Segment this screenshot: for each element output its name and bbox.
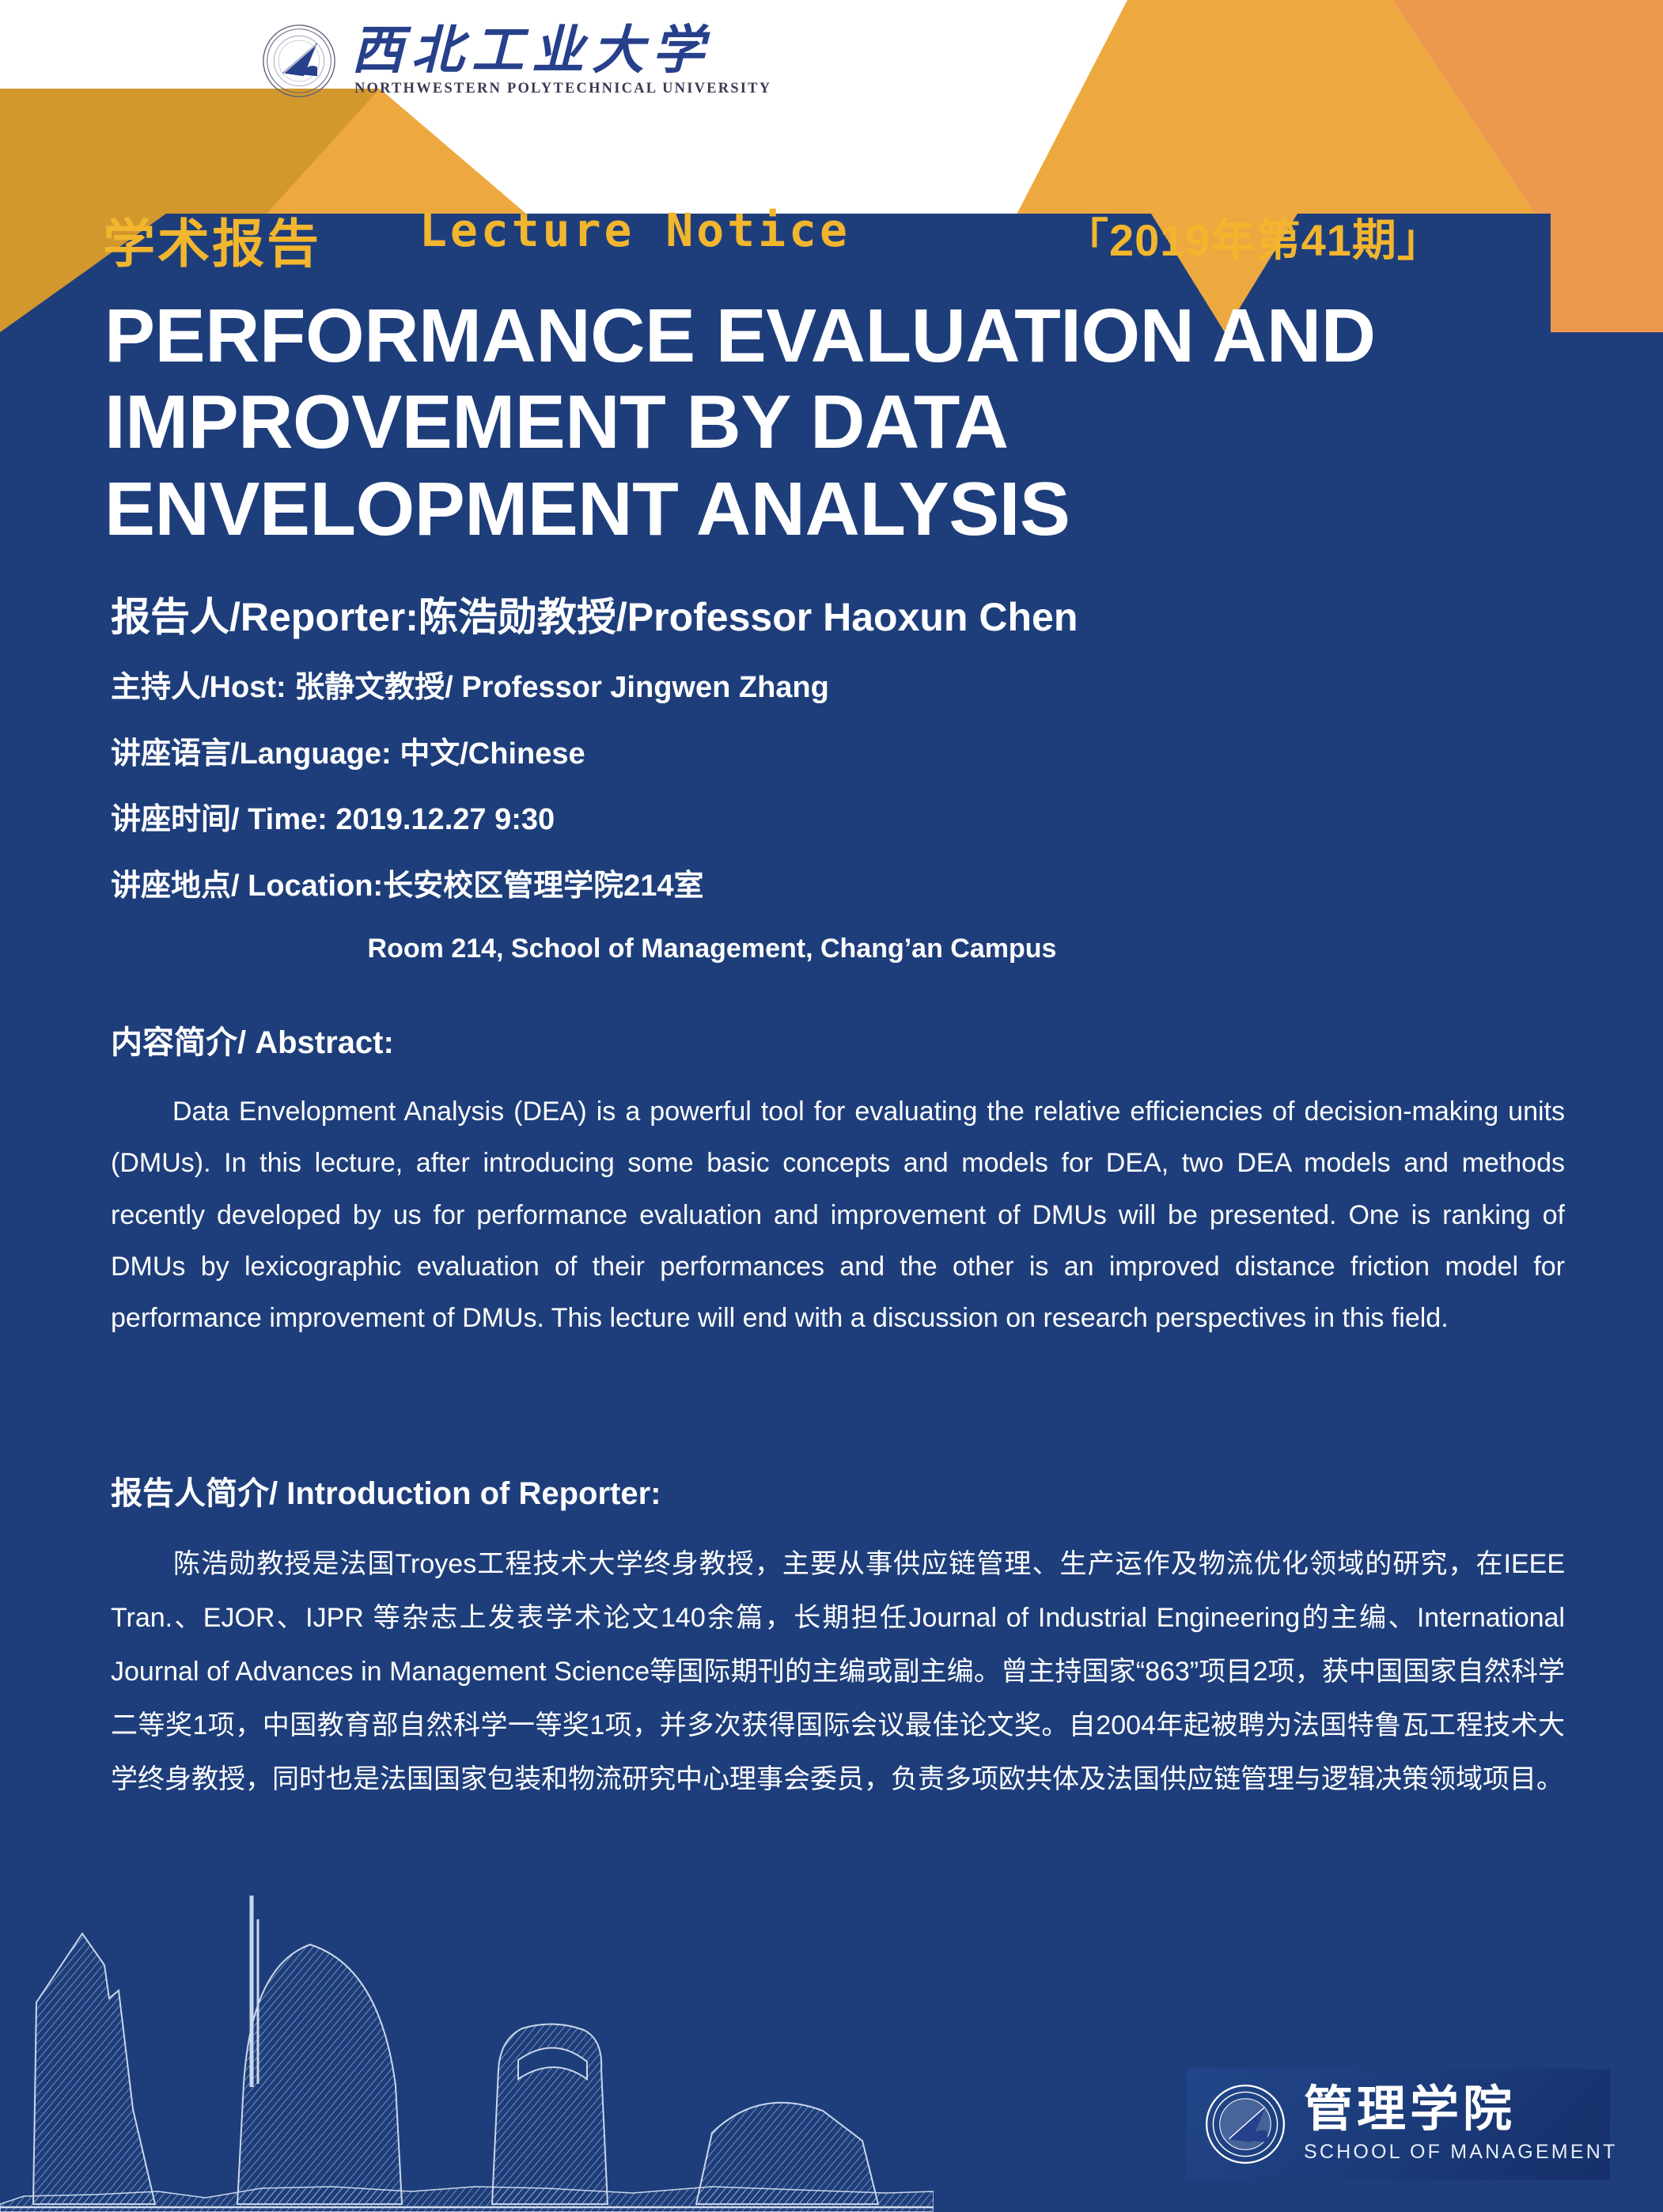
abstract-heading: 内容简介/ Abstract:	[111, 1017, 1565, 1062]
introduction-heading: 报告人简介/ Introduction of Reporter:	[111, 1468, 1565, 1513]
banner-issue-number: 「2019年第41期」	[1064, 205, 1442, 269]
header-geometric-decoration	[0, 0, 1663, 332]
banner-title-cn: 学术报告	[103, 202, 321, 278]
detail-time: 讲座时间/ Time: 2019.12.27 9:30	[111, 801, 1559, 839]
introduction-text: 陈浩勋教授是法国Troyes工程技术大学终身教授，主要从事供应链管理、生产运作及…	[111, 1549, 1565, 1794]
abstract-body: Data Envelopment Analysis (DEA) is a pow…	[111, 1086, 1565, 1344]
banner-row: 学术报告 Lecture Notice 「2019年第41期」	[0, 202, 1663, 273]
university-name-en: NORTHWESTERN POLYTECHNICAL UNIVERSITY	[354, 81, 771, 97]
university-name-cn: 西北工业大学	[351, 25, 771, 78]
detail-location-en: Room 214, School of Management, Chang’an…	[111, 934, 1313, 964]
school-of-management-logo: 管理学院 SCHOOL OF MANAGEMENT	[1187, 2069, 1610, 2180]
university-logo: 西北工业大学 NORTHWESTERN POLYTECHNICAL UNIVER…	[261, 17, 831, 104]
abstract-section: 内容简介/ Abstract: Data Envelopment Analysi…	[111, 1017, 1565, 1344]
detail-host: 主持人/Host: 张静文教授/ Professor Jingwen Zhang	[111, 669, 1559, 707]
city-skyline-sketch-icon	[0, 1872, 934, 2212]
lecture-title: PERFORMANCE EVALUATION AND IMPROVEMENT B…	[104, 293, 1544, 552]
school-name-en: SCHOOL OF MANAGEMENT	[1304, 2141, 1617, 2164]
abstract-text: Data Envelopment Analysis (DEA) is a pow…	[111, 1097, 1565, 1333]
introduction-body: 陈浩勋教授是法国Troyes工程技术大学终身教授，主要从事供应链管理、生产运作及…	[111, 1537, 1565, 1806]
lecture-poster: 西北工业大学 NORTHWESTERN POLYTECHNICAL UNIVER…	[0, 0, 1663, 2212]
banner-title-en: Lecture Notice	[419, 203, 850, 257]
lecture-details: 报告人/Reporter:陈浩勋教授/Professor Haoxun Chen…	[111, 593, 1559, 964]
detail-reporter: 报告人/Reporter:陈浩勋教授/Professor Haoxun Chen	[111, 593, 1559, 641]
npu-seal-icon	[1204, 2083, 1286, 2165]
npu-seal-icon	[261, 23, 337, 99]
school-name-cn: 管理学院	[1304, 2085, 1617, 2135]
detail-location: 讲座地点/ Location:长安校区管理学院214室	[111, 868, 1559, 906]
detail-language: 讲座语言/Language: 中文/Chinese	[111, 736, 1559, 774]
introduction-section: 报告人简介/ Introduction of Reporter: 陈浩勋教授是法…	[111, 1468, 1565, 1806]
